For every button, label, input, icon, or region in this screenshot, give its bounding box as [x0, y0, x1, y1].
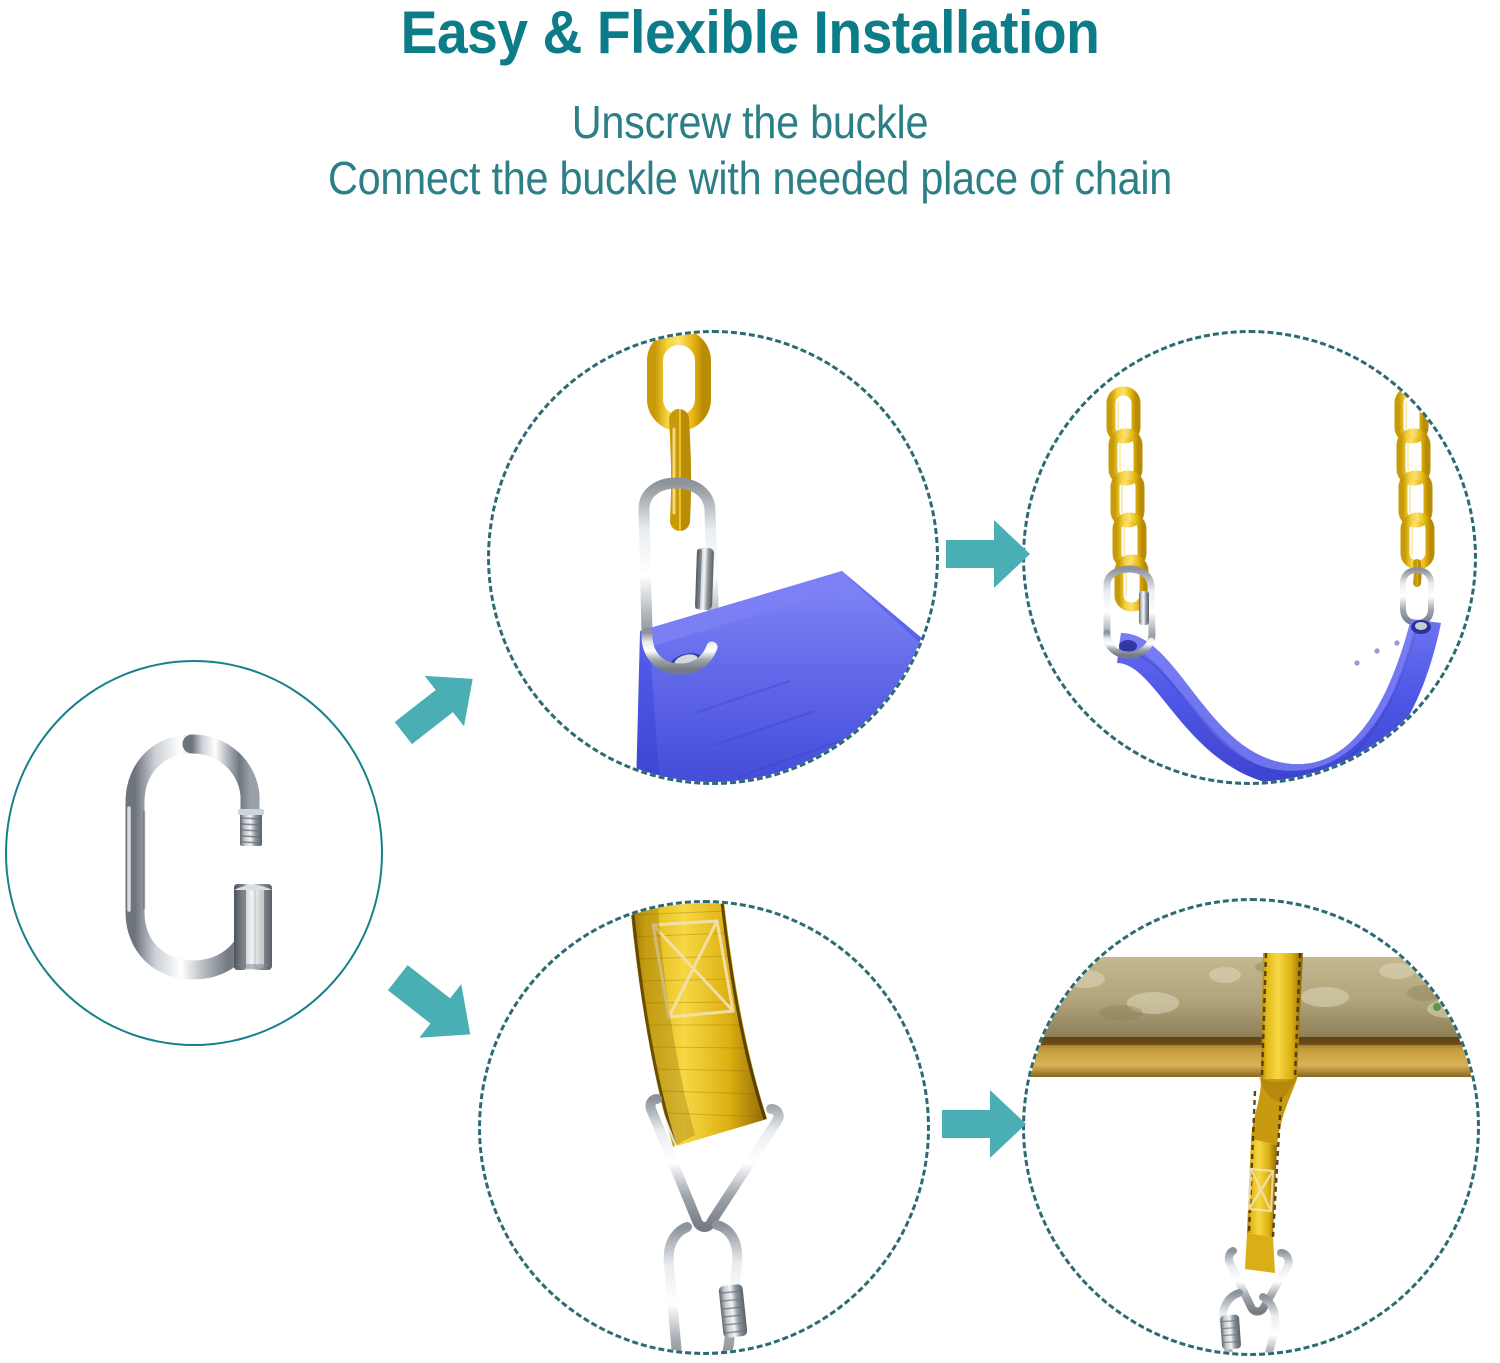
- right-chain-icon: [1399, 391, 1430, 583]
- installation-diagram: [0, 0, 1500, 1363]
- beam-strap-chain-icon: [1025, 901, 1477, 1353]
- arrow-buckle-to-strap: [382, 958, 486, 1054]
- carabiner-quick-link-icon: [7, 662, 381, 1044]
- locking-sleeve-icon: [718, 1284, 747, 1338]
- panel-swing-seat-hanging[interactable]: [1022, 330, 1477, 785]
- swing-seat-chains-icon: [1025, 333, 1474, 782]
- panel-quick-link-buckle-inner: [7, 662, 381, 1044]
- arrow-buckle-to-attach: [388, 662, 488, 750]
- wooden-beam-icon: [1025, 957, 1477, 1077]
- panel-quick-link-buckle[interactable]: [5, 660, 383, 1046]
- panel-buckle-attached-to-seat[interactable]: [487, 330, 939, 785]
- blue-swing-seat-icon: [636, 571, 936, 782]
- blue-swing-seat-icon: [1117, 619, 1441, 782]
- panel-strap-with-carabiner-inner: [481, 903, 927, 1352]
- panel-buckle-attached-to-seat-inner: [490, 333, 936, 782]
- panel-strap-over-beam-inner: [1025, 901, 1477, 1353]
- hex-sleeve-nut: [234, 884, 272, 970]
- strap-carabiner-icon: [481, 903, 927, 1352]
- panel-strap-over-beam[interactable]: [1022, 898, 1480, 1356]
- arrow-attach-to-hanging: [942, 512, 1034, 596]
- chain-link-carabiner-seat-icon: [490, 333, 936, 782]
- arrow-strap-to-beam: [938, 1082, 1030, 1166]
- panel-strap-with-carabiner[interactable]: [478, 900, 930, 1355]
- locking-sleeve-icon: [1220, 1314, 1241, 1349]
- locking-carabiner-icon: [669, 1225, 748, 1352]
- panel-swing-seat-hanging-inner: [1025, 333, 1474, 782]
- threaded-screw-stub: [238, 809, 264, 846]
